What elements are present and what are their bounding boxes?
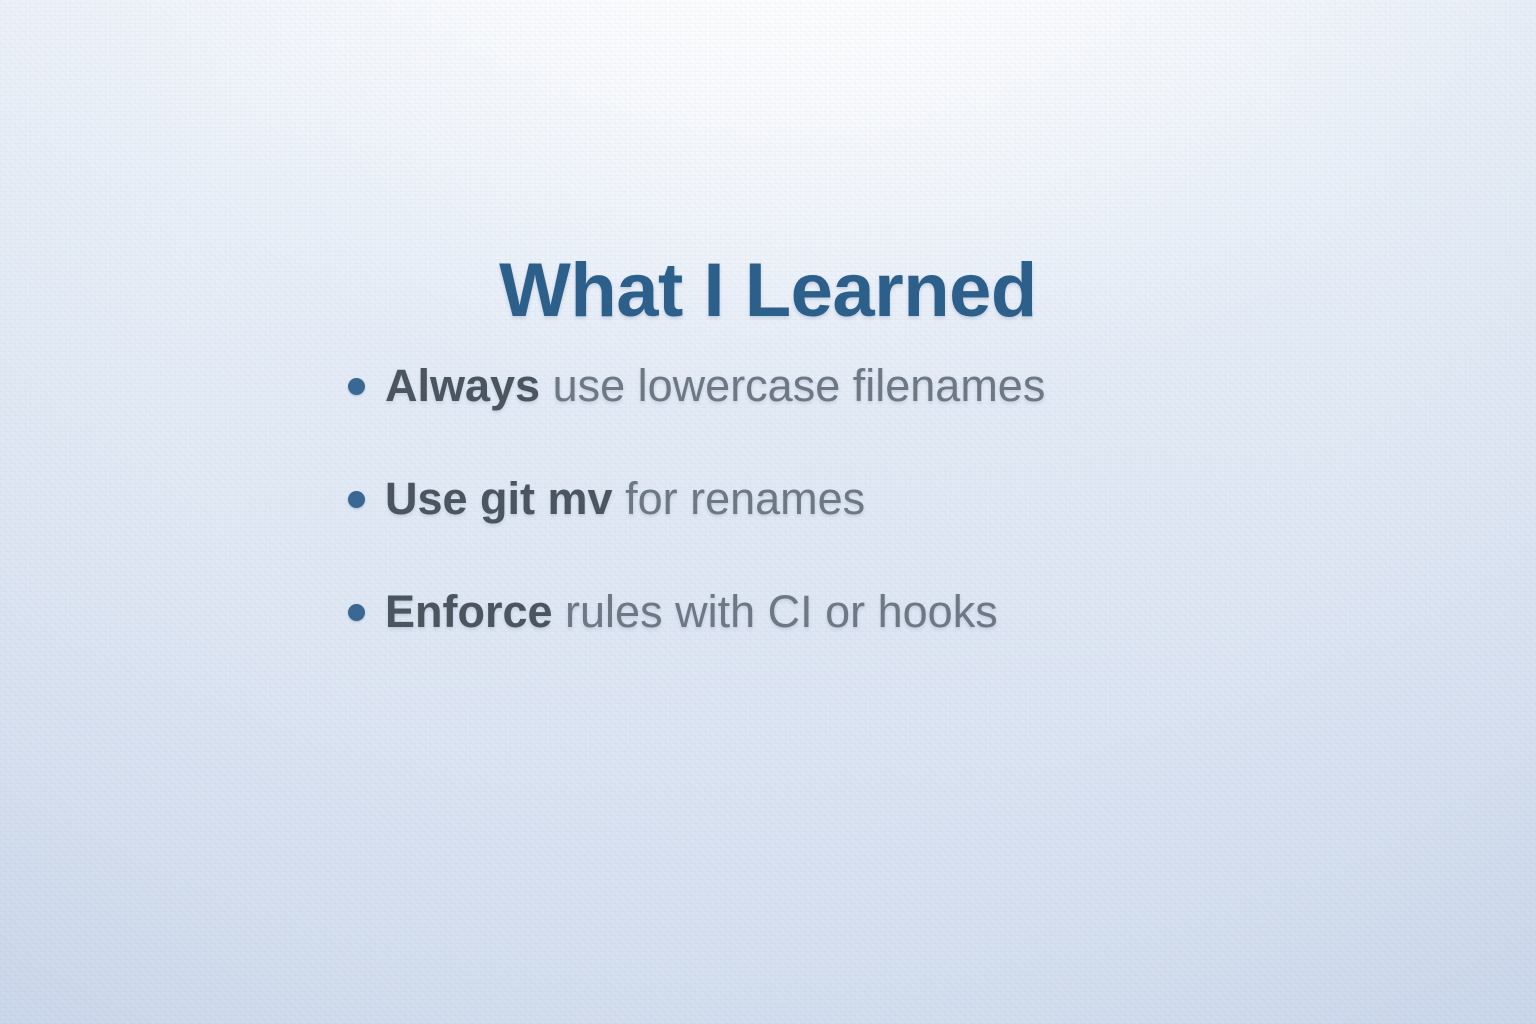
bullet-item-1: Always use lowercase filenames [340,358,1440,471]
bullet-remainder-1: use lowercase filenames [540,360,1045,411]
slide-title: What I Learned [0,247,1536,334]
bullet-emphasis-2: Use git mv [385,473,613,524]
bullet-emphasis-3: Enforce [385,586,553,637]
bullet-text-3: Enforce rules with CI or hooks [385,584,998,640]
bullet-text-2: Use git mv for renames [385,471,865,527]
bullet-dot-icon [348,378,365,395]
bullet-text-1: Always use lowercase filenames [385,358,1045,414]
presentation-slide: What I Learned Always use lowercase file… [0,0,1536,1024]
bullet-item-3: Enforce rules with CI or hooks [340,584,1440,697]
bullet-dot-icon [348,491,365,508]
bullet-remainder-2: for renames [613,473,866,524]
bullet-remainder-3: rules with CI or hooks [553,586,998,637]
slide-content: What I Learned Always use lowercase file… [0,0,1536,1024]
bullet-list: Always use lowercase filenames Use git m… [340,358,1440,697]
bullet-item-2: Use git mv for renames [340,471,1440,584]
bullet-emphasis-1: Always [385,360,540,411]
bullet-dot-icon [348,604,365,621]
